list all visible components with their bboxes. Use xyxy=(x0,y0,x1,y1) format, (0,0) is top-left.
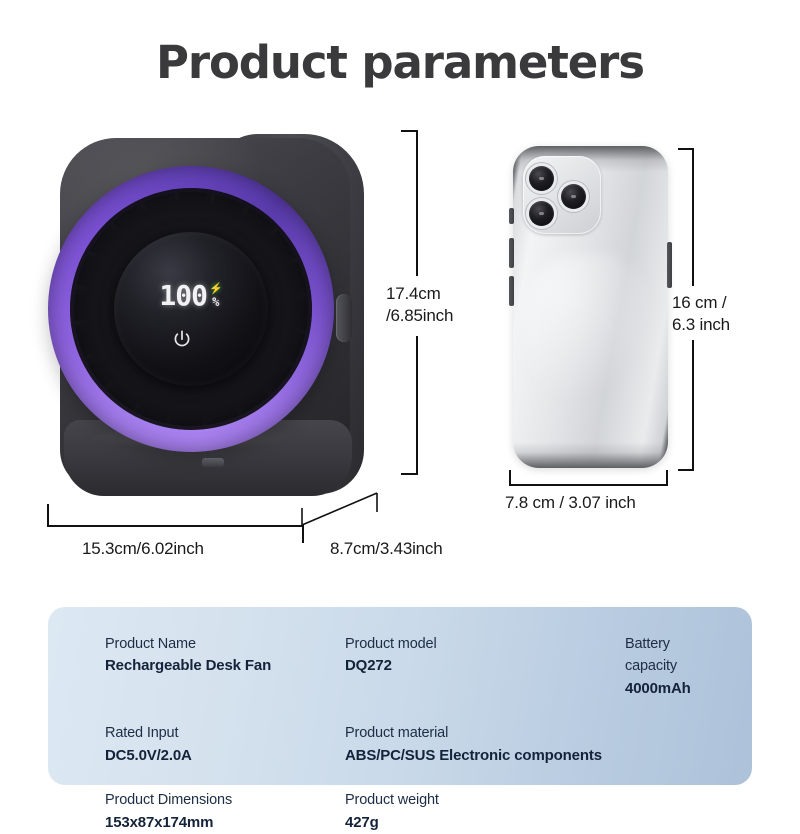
phone-power-button xyxy=(667,242,672,288)
camera-lens-telephoto xyxy=(561,184,586,209)
spec-value: 427g xyxy=(345,812,625,834)
spec-cell: Rated InputDC5.0V/2.0A xyxy=(105,722,345,767)
spec-cell xyxy=(625,789,725,834)
power-button-icon xyxy=(170,328,194,352)
spec-cell: Product materialABS/PC/SUS Electronic co… xyxy=(345,722,625,767)
battery-percent-value: 100 xyxy=(159,282,207,310)
phone-mute-switch xyxy=(509,208,514,224)
spec-cell xyxy=(625,722,725,767)
charging-bolt-icon: ⚡ xyxy=(209,284,223,295)
fan-base-vent xyxy=(202,458,224,467)
phone-width-bracket-right-cap xyxy=(666,470,668,486)
spec-cell: Product modelDQ272 xyxy=(345,633,625,700)
percent-symbol: % xyxy=(212,296,219,308)
spec-value: 153x87x174mm xyxy=(105,812,345,834)
fan-height-bracket-lower-line xyxy=(416,336,418,474)
fan-height-bracket-upper-line xyxy=(416,130,418,276)
spec-cell: Product Dimensions153x87x174mm xyxy=(105,789,345,834)
phone-volume-up xyxy=(509,238,514,268)
fan-height-bracket-bottom-cap xyxy=(401,473,418,475)
spec-value: DQ272 xyxy=(345,655,625,678)
spec-key: Battery capacity xyxy=(625,633,725,678)
fan-battery-display: 100 ⚡ % xyxy=(114,276,268,316)
fan-depth-label: 8.7cm/3.43inch xyxy=(330,538,443,560)
fan-height-label: 17.4cm /6.85inch xyxy=(386,283,453,328)
fan-width-label: 15.3cm/6.02inch xyxy=(82,538,204,560)
spec-value: DC5.0V/2.0A xyxy=(105,745,345,768)
spec-value: ABS/PC/SUS Electronic components xyxy=(345,745,625,768)
spec-value: 4000mAh xyxy=(625,678,725,701)
lens-glint xyxy=(539,212,544,215)
spec-key: Product Dimensions xyxy=(105,789,345,811)
spec-key: Product weight xyxy=(345,789,625,811)
camera-lens-wide xyxy=(529,166,554,191)
spec-cell: Product weight427g xyxy=(345,789,625,834)
spec-key: Product model xyxy=(345,633,625,655)
fan-width-bracket-line xyxy=(47,525,303,527)
camera-lens-ultrawide xyxy=(529,201,554,226)
phone-height-bracket-bottom-cap xyxy=(678,469,694,471)
spec-cell: Battery capacity4000mAh xyxy=(625,633,725,700)
phone-width-label: 7.8 cm / 3.07 inch xyxy=(505,492,636,514)
fan-depth-bracket xyxy=(295,486,385,546)
specifications-grid: Product NameRechargeable Desk FanProduct… xyxy=(105,633,725,834)
phone-width-bracket-line xyxy=(509,484,667,486)
fan-width-bracket-left-cap xyxy=(47,504,49,526)
battery-display-marks: ⚡ % xyxy=(209,284,223,308)
spec-key: Product Name xyxy=(105,633,345,655)
phone-volume-down xyxy=(509,276,514,306)
spec-key: Product material xyxy=(345,722,625,744)
phone-height-label: 16 cm / 6.3 inch xyxy=(672,292,730,337)
specifications-panel: Product NameRechargeable Desk FanProduct… xyxy=(48,607,752,785)
spec-value: Rechargeable Desk Fan xyxy=(105,655,345,678)
phone-height-bracket-lower-line xyxy=(692,340,694,470)
phone-reference-image xyxy=(503,146,678,471)
spec-cell: Product NameRechargeable Desk Fan xyxy=(105,633,345,700)
phone-bottom-frame xyxy=(513,442,668,468)
fan-side-button xyxy=(336,294,352,342)
phone-height-bracket-upper-line xyxy=(692,148,694,286)
spec-key: Rated Input xyxy=(105,722,345,744)
page-title: Product parameters xyxy=(0,36,800,89)
lens-glint xyxy=(539,177,544,180)
fan-product-image: 100 ⚡ % xyxy=(34,128,389,518)
phone-glass-sheen xyxy=(525,254,653,404)
lens-glint xyxy=(571,195,576,198)
